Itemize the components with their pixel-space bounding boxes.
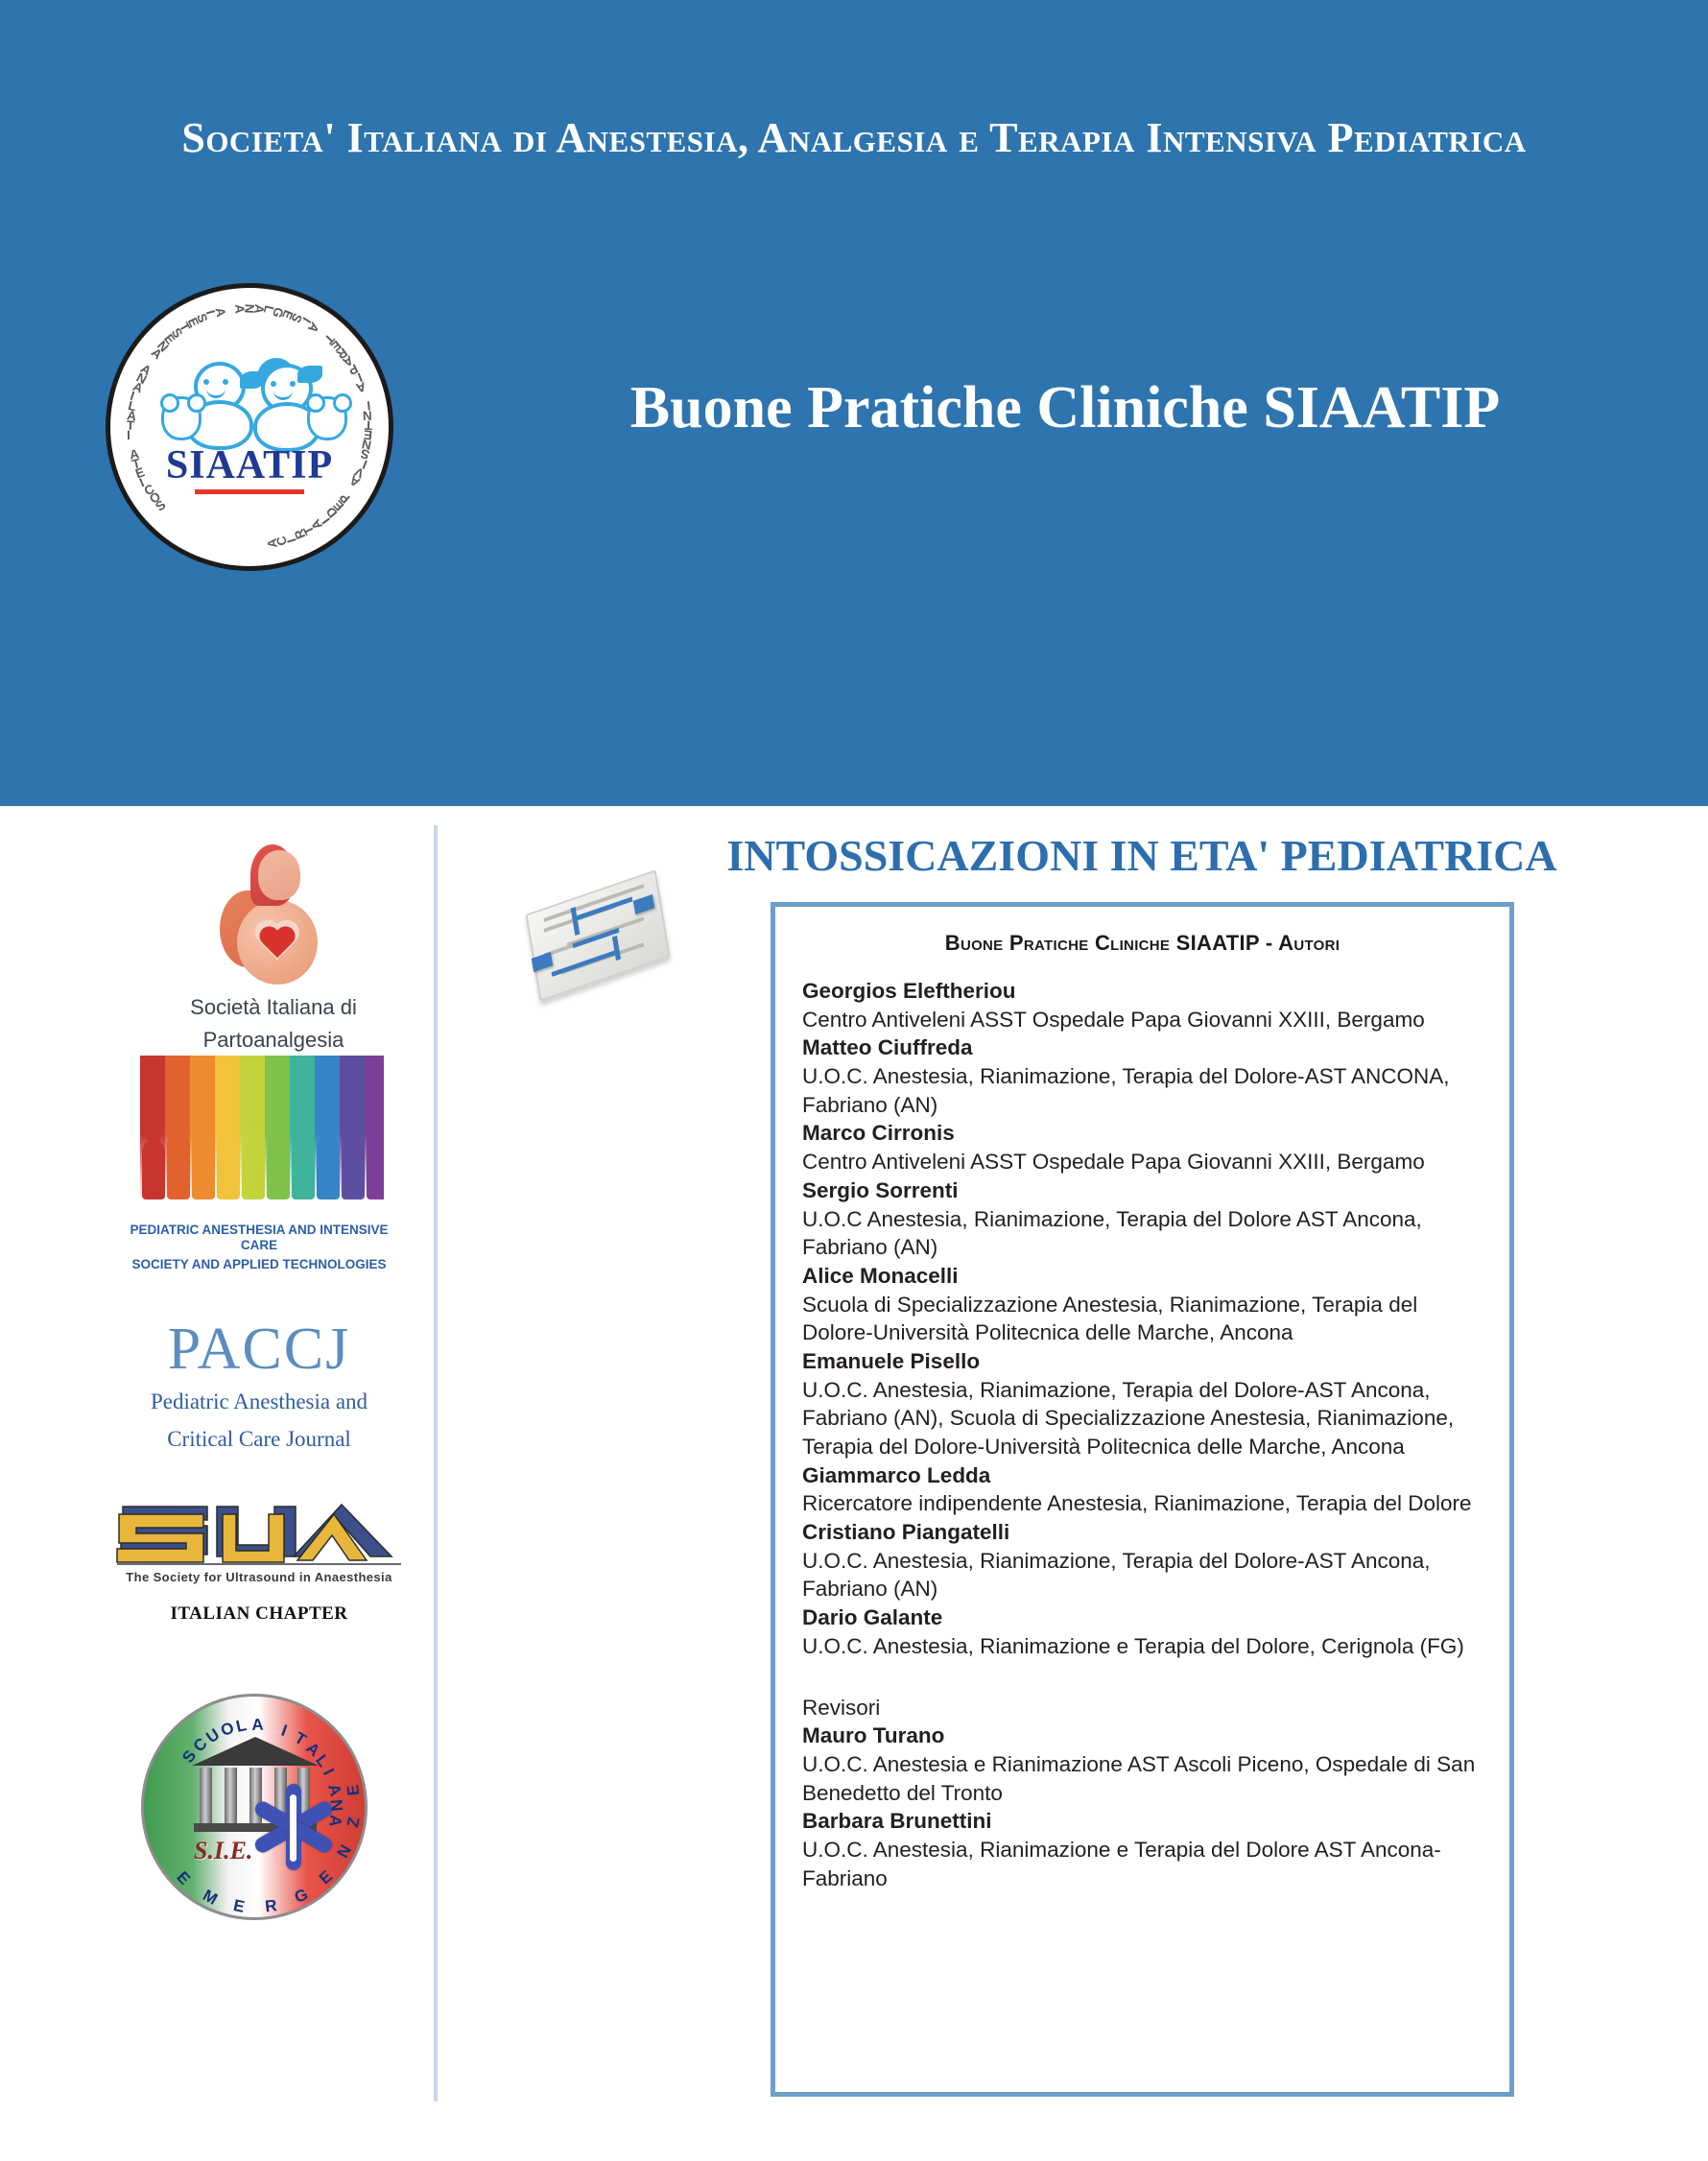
pregnant-woman-icon: [216, 844, 331, 988]
author-name: Giammarco Ledda: [802, 1461, 1483, 1490]
author-affiliation: U.O.C. Anestesia, Rianimazione, Terapia …: [802, 1376, 1483, 1461]
siaatip-wordmark: SIAATIP: [144, 442, 355, 488]
reviewer-affiliation: U.O.C. Anestesia, Rianimazione e Terapia…: [802, 1836, 1483, 1892]
paicsat-child-silhouette: [342, 1128, 365, 1199]
logo-partoanalgesia-line2: Partoanalgesia: [115, 1027, 432, 1054]
badge-inner-disc: SIAATIP: [144, 321, 355, 533]
author-affiliation: Ricercatore indipendente Anestesia, Rian…: [802, 1489, 1483, 1518]
logo-sua-line2: ITALIAN CHAPTER: [106, 1603, 413, 1625]
sua-wordmark-icon: [115, 1497, 403, 1568]
teddy-bear-right: [307, 396, 347, 440]
list-spacer: [802, 1661, 1483, 1694]
author-box: Buone Pratiche Cliniche SIAATIP - Autori…: [771, 902, 1514, 2097]
reviewer-name: Barbara Brunettini: [802, 1807, 1483, 1836]
paicsat-child-silhouette: [192, 1127, 215, 1199]
paicsat-child-silhouette: [167, 1133, 190, 1199]
logo-paicsat-line1: PEDIATRIC ANESTHESIA AND INTENSIVE CARE: [115, 1223, 403, 1253]
author-affiliation: U.O.C Anestesia, Rianimazione, Terapia d…: [802, 1205, 1483, 1262]
logo-sua: The Society for Ultrasound in Anaesthesi…: [106, 1497, 413, 1625]
reviewers-label: Revisori: [802, 1694, 1483, 1722]
author-box-title: Buone Pratiche Cliniche SIAATIP - Autori: [775, 931, 1509, 956]
header-banner: Societa' Italiana di Anestesia, Analgesi…: [0, 0, 1708, 806]
logo-paicsat: PAICSAT PEDIATRIC ANESTHESIA AND INTENSI…: [115, 1056, 403, 1273]
logo-paicsat-line2: SOCIETY AND APPLIED TECHNOLOGIES: [115, 1257, 403, 1272]
author-name: Matteo Ciuffreda: [802, 1033, 1483, 1062]
logo-paccj-line1: Pediatric Anesthesia and: [115, 1389, 403, 1416]
author-name: Alice Monacelli: [802, 1262, 1483, 1291]
maze-icon: [523, 868, 686, 984]
page-title: Buone Pratiche Cliniche SIAATIP: [499, 374, 1631, 442]
paicsat-child-silhouette: [292, 1121, 315, 1199]
reviewer-affiliation: U.O.C. Anestesia e Rianimazione AST Asco…: [802, 1750, 1483, 1807]
siaatip-underline: [195, 489, 304, 494]
author-affiliation: U.O.C. Anestesia, Rianimazione, Terapia …: [802, 1062, 1483, 1119]
reviewer-name: Mauro Turano: [802, 1722, 1483, 1750]
logo-sie: S.I.E. SCUOLA ITALIANA EMERGENZE: [139, 1694, 369, 1920]
teddy-bear-left: [161, 396, 202, 440]
author-name: Dario Galante: [802, 1603, 1483, 1632]
author-affiliation: Centro Antiveleni ASST Ospedale Papa Gio…: [802, 1148, 1483, 1176]
author-affiliation: U.O.C. Anestesia, Rianimazione, Terapia …: [802, 1547, 1483, 1603]
logo-sua-line1: The Society for Ultrasound in Anaesthesi…: [106, 1570, 413, 1584]
author-name: Cristiano Piangatelli: [802, 1518, 1483, 1547]
author-name: Sergio Sorrenti: [802, 1176, 1483, 1205]
paicsat-child-silhouette: [217, 1120, 240, 1199]
logo-partoanalgesia: Società Italiana di Partoanalgesia: [115, 844, 432, 1053]
logo-paccj-line2: Critical Care Journal: [115, 1426, 403, 1454]
logo-sie-center: S.I.E.: [194, 1837, 252, 1865]
author-name: Emanuele Pisello: [802, 1347, 1483, 1376]
section-title: INTOSSICAZIONI IN ETA' PEDIATRICA: [614, 830, 1670, 881]
society-name: Societa' Italiana di Anestesia, Analgesi…: [0, 113, 1708, 162]
paicsat-child-silhouette: [267, 1128, 290, 1199]
logo-partoanalgesia-line1: Società Italiana di: [115, 994, 432, 1021]
logo-paccj-wordmark: PACCJ: [115, 1319, 403, 1379]
author-affiliation: U.O.C. Anestesia, Rianimazione e Terapia…: [802, 1632, 1483, 1661]
logo-paccj: PACCJ Pediatric Anesthesia and Critical …: [115, 1319, 403, 1454]
author-affiliation: Centro Antiveleni ASST Ospedale Papa Gio…: [802, 1006, 1483, 1034]
paicsat-child-silhouette: [317, 1135, 340, 1199]
author-name: Georgios Eleftheriou: [802, 977, 1483, 1006]
author-list: Georgios EleftheriouCentro Antiveleni AS…: [775, 977, 1509, 1892]
paicsat-child-silhouette: [142, 1140, 165, 1199]
vertical-divider: [434, 825, 438, 2102]
author-name: Marco Cirronis: [802, 1119, 1483, 1148]
author-affiliation: Scuola di Specializzazione Anestesia, Ri…: [802, 1291, 1483, 1347]
paicsat-child-silhouette: [367, 1122, 384, 1199]
siaatip-logo: SOCIETA ITALIANA ANESTESIA ANALGESIA TER…: [106, 283, 393, 571]
paicsat-child-silhouette: [242, 1134, 265, 1199]
paicsat-rainbow-children-icon: PAICSAT: [134, 1056, 384, 1219]
sie-badge-icon: S.I.E. SCUOLA ITALIANA EMERGENZE: [141, 1694, 368, 1920]
